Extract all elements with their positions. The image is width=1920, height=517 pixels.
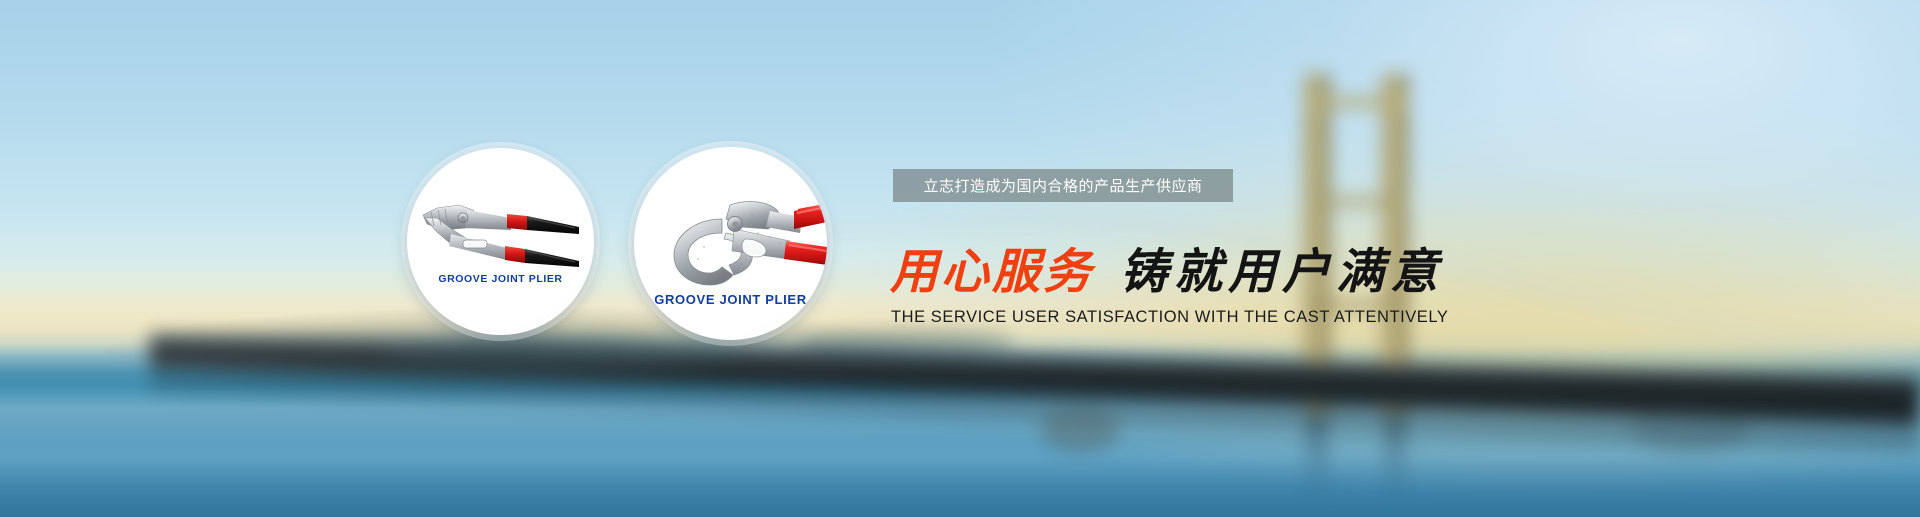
product-circle-1[interactable]: GROOVE JOINT PLIER	[407, 148, 594, 335]
headline-red-text: 用心服务	[890, 244, 1094, 300]
hero-banner: GROOVE JOINT PLIER	[0, 0, 1920, 517]
product-caption-1: GROOVE JOINT PLIER	[407, 273, 594, 285]
groove-joint-plier-red-handle-icon	[634, 147, 827, 340]
product-circle-2[interactable]: GROOVE JOINT PLIER	[634, 147, 827, 340]
tagline-text: 立志打造成为国内合格的产品生产供应商	[923, 175, 1202, 196]
headline-black-text: 铸就用户满意	[1120, 244, 1444, 300]
tagline-bar: 立志打造成为国内合格的产品生产供应商	[893, 169, 1233, 202]
headline: 用心服务铸就用户满意	[890, 248, 1444, 296]
groove-joint-plier-black-handle-icon	[407, 148, 594, 335]
product-caption-2: GROOVE JOINT PLIER	[634, 292, 827, 307]
subline-text: THE SERVICE USER SATISFACTION WITH THE C…	[891, 308, 1448, 327]
